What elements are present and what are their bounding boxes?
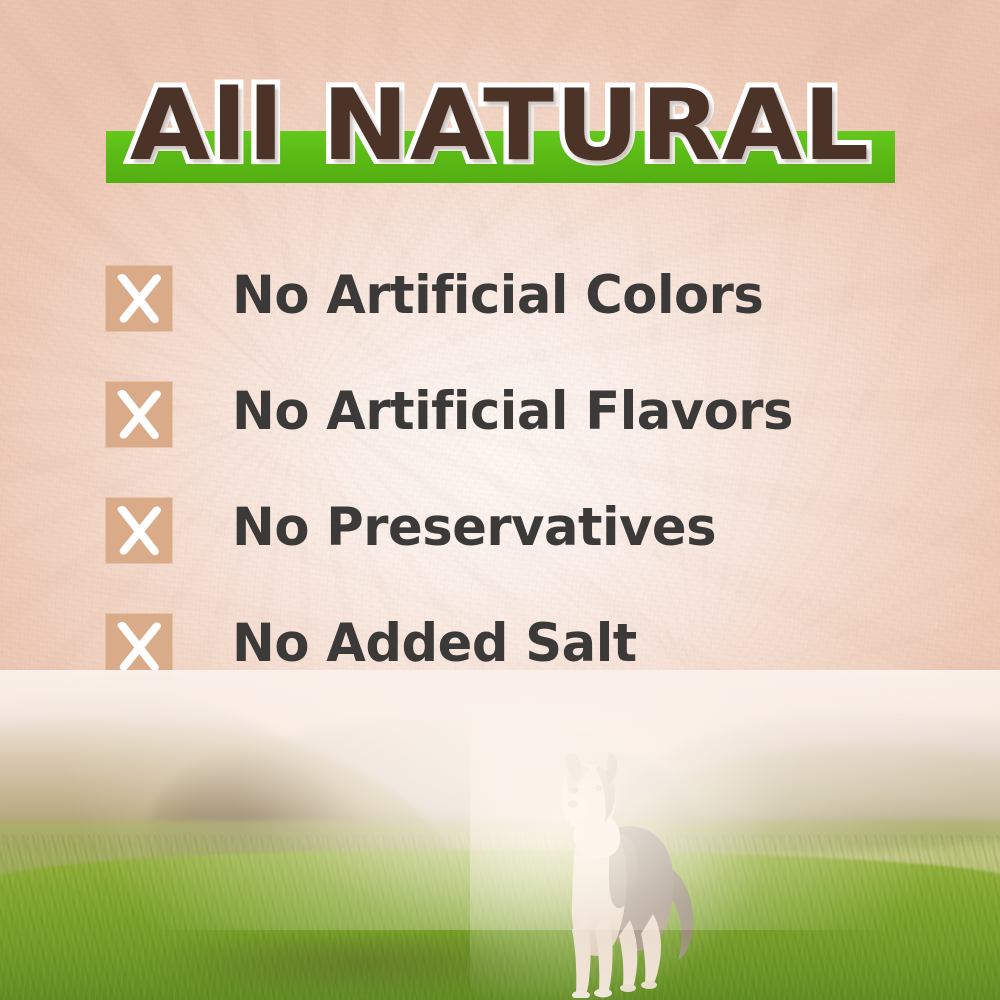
feature-row: No Artificial Flavors <box>106 380 926 496</box>
headline-text: All NATURAL <box>0 72 1000 180</box>
feature-label: No Preservatives <box>232 490 716 566</box>
dirt-patch <box>150 938 570 1000</box>
feature-row: No Artificial Colors <box>106 264 926 380</box>
x-mark-icon <box>106 498 172 563</box>
x-mark-icon <box>106 266 172 331</box>
feature-label: No Artificial Colors <box>232 258 763 334</box>
landscape-photo <box>0 670 1000 1000</box>
all-natural-infographic: All NATURAL No Artificial Colors No Arti… <box>0 0 1000 1000</box>
x-mark-icon <box>106 382 172 447</box>
feature-label: No Artificial Flavors <box>232 374 793 450</box>
headline-block: All NATURAL <box>0 72 1000 192</box>
feature-list: No Artificial Colors No Artificial Flavo… <box>106 264 926 728</box>
feature-row: No Preservatives <box>106 496 926 612</box>
dog-illustration <box>515 738 715 998</box>
